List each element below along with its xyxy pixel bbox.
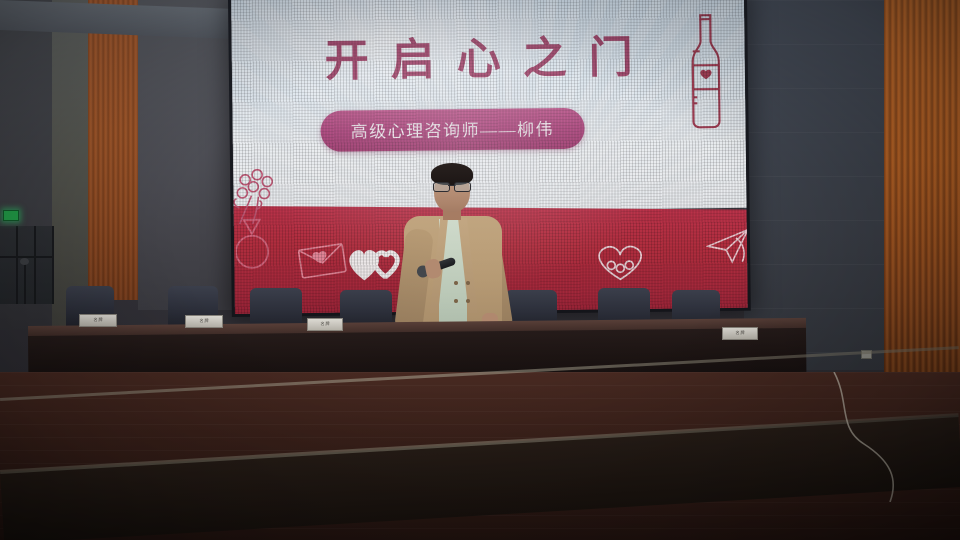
name-placard: 名 牌	[307, 318, 343, 331]
microphone-stand-head-icon	[20, 258, 29, 265]
name-placard-text: 名 牌	[308, 319, 342, 329]
name-placard-text: 名 牌	[723, 328, 757, 338]
wall-panel-left-inner	[52, 0, 88, 330]
presenter-credit-pill: 高级心理咨询师——柳伟	[320, 108, 584, 152]
name-placard-text: 名 牌	[80, 315, 116, 325]
wood-wall-panel-left	[88, 0, 140, 300]
name-placard-text: 名 牌	[186, 316, 222, 326]
auditorium-scene: 开启心之门 高级心理咨询师——柳伟	[0, 0, 960, 540]
side-door[interactable]	[0, 226, 54, 304]
microphone-stand	[24, 262, 26, 304]
wall-panel-right	[744, 0, 890, 370]
presentation-title: 开启心之门	[269, 20, 710, 89]
wall-panel-left-third	[138, 0, 234, 310]
name-placard: 名 牌	[722, 327, 758, 340]
glasses-icon	[433, 182, 471, 190]
exit-sign-icon	[3, 210, 19, 221]
name-placard: 名 牌	[79, 314, 117, 327]
stage-curtain-right	[884, 0, 960, 400]
chair	[250, 288, 302, 328]
name-placard: 名 牌	[185, 315, 223, 328]
